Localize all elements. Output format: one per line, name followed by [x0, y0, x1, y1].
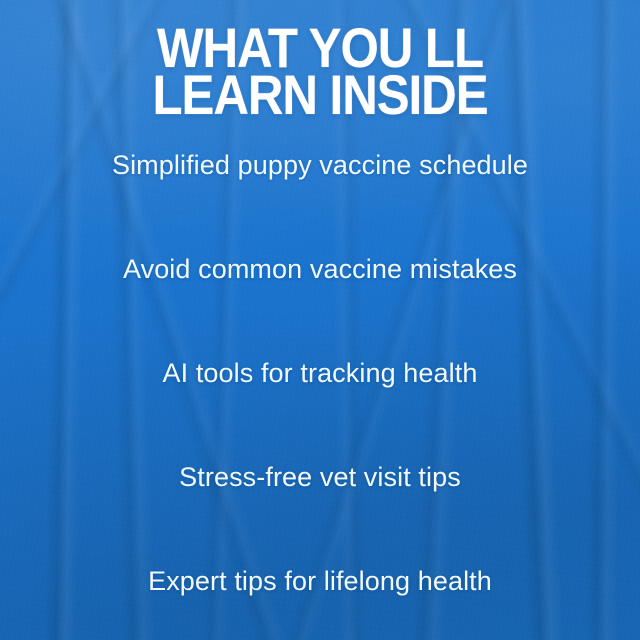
bullet-list: Simplified puppy vaccine schedule Avoid … — [0, 148, 640, 598]
bullet-item-3: AI tools for tracking health — [0, 356, 640, 390]
headline: WHAT YOU LL LEARN INSIDE — [38, 24, 601, 118]
bullet-item-2: Avoid common vaccine mistakes — [0, 252, 640, 286]
bullet-item-1: Simplified puppy vaccine schedule — [0, 148, 640, 182]
bullet-item-4: Stress-free vet visit tips — [0, 460, 640, 494]
poster-content: WHAT YOU LL LEARN INSIDE Simplified pupp… — [0, 0, 640, 640]
poster-canvas: WHAT YOU LL LEARN INSIDE Simplified pupp… — [0, 0, 640, 640]
bullet-item-5: Expert tips for lifelong health — [0, 564, 640, 598]
headline-line-2: LEARN INSIDE — [38, 71, 601, 118]
